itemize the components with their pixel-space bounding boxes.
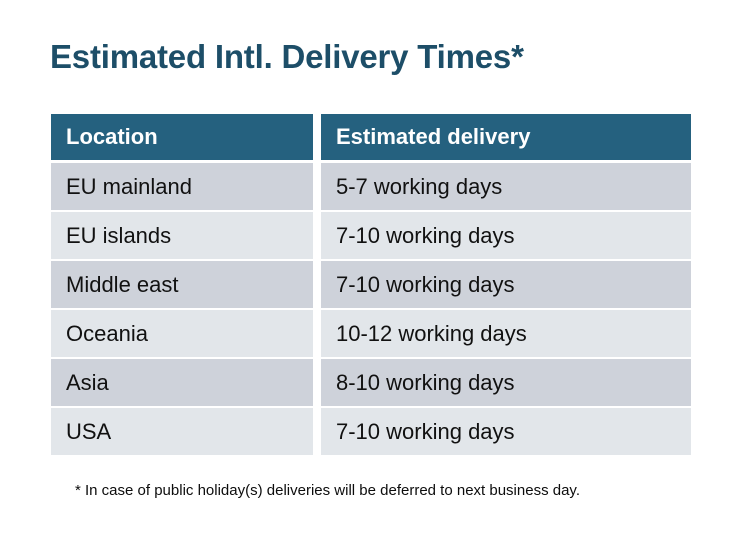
column-header-location: Location xyxy=(51,114,313,160)
cell-estimated-delivery: 10-12 working days xyxy=(321,310,691,357)
cell-location: EU islands xyxy=(51,212,313,259)
cell-location: Oceania xyxy=(51,310,313,357)
table-row: EU islands 7-10 working days xyxy=(51,212,691,259)
cell-estimated-delivery: 8-10 working days xyxy=(321,359,691,406)
footnote-text: * In case of public holiday(s) deliverie… xyxy=(75,481,580,501)
column-header-estimated-delivery: Estimated delivery xyxy=(321,114,691,160)
delivery-times-table: Location Estimated delivery EU mainland … xyxy=(51,114,691,457)
table-row: Oceania 10-12 working days xyxy=(51,310,691,357)
page-title: Estimated Intl. Delivery Times* xyxy=(50,37,524,77)
cell-estimated-delivery: 7-10 working days xyxy=(321,408,691,455)
table-row: USA 7-10 working days xyxy=(51,408,691,455)
table-header-row: Location Estimated delivery xyxy=(51,114,691,160)
table-row: EU mainland 5-7 working days xyxy=(51,163,691,210)
cell-estimated-delivery: 5-7 working days xyxy=(321,163,691,210)
cell-location: Asia xyxy=(51,359,313,406)
cell-location: EU mainland xyxy=(51,163,313,210)
cell-location: USA xyxy=(51,408,313,455)
cell-location: Middle east xyxy=(51,261,313,308)
cell-estimated-delivery: 7-10 working days xyxy=(321,212,691,259)
table-row: Middle east 7-10 working days xyxy=(51,261,691,308)
cell-estimated-delivery: 7-10 working days xyxy=(321,261,691,308)
delivery-times-card: Estimated Intl. Delivery Times* Location… xyxy=(0,0,745,536)
table-row: Asia 8-10 working days xyxy=(51,359,691,406)
